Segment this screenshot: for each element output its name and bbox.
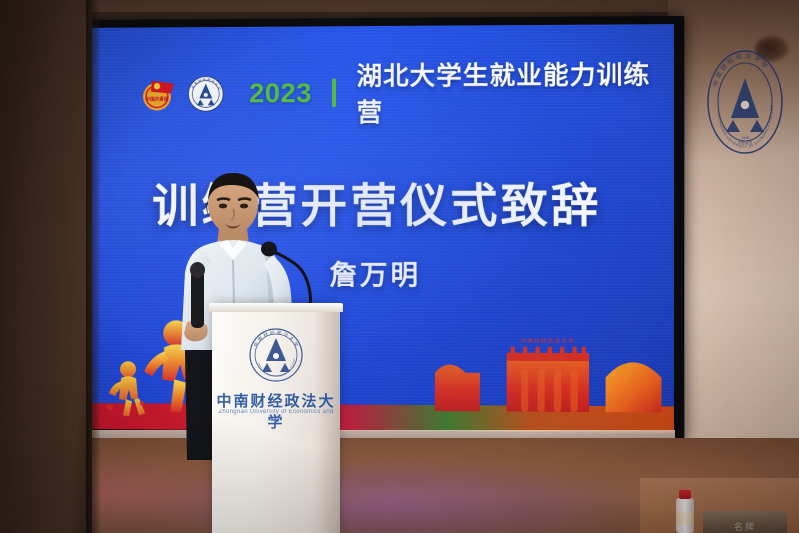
podium-university-name-en: Zhongnan University of Economics and Law — [212, 409, 340, 421]
svg-text:中国 武汉: 中国 武汉 — [738, 140, 753, 145]
wall-university-emblem-icon: 中南财经政法大学 ZHONGNAN UNIVERSITY OF ECONOMIC… — [706, 48, 784, 156]
podium-top-surface — [209, 303, 343, 312]
name-placard-text: 名牌 — [703, 520, 787, 533]
slide-header: 中国共青团 中南财经政法大学 2023 湖北大学生就 — [138, 55, 674, 130]
conference-photo-scene: 中南财经政法大学 ZHONGNAN UNIVERSITY OF ECONOMIC… — [0, 0, 799, 533]
left-wall-edge — [86, 0, 100, 533]
header-divider — [332, 79, 336, 107]
bottle-cap — [679, 490, 691, 499]
svg-text:中南财经政法大学: 中南财经政法大学 — [521, 337, 575, 345]
campus-skyline-artwork-icon: 中南财经政法大学 — [435, 332, 672, 412]
name-placard: 名牌 — [703, 511, 787, 533]
svg-text:1948: 1948 — [741, 136, 749, 140]
slide-subtitle: 湖北大学生就业能力训练营 — [357, 55, 674, 129]
podium-university-seal-icon: 中南财经政法大学 ZHONGNAN UNIVERSITY OF ECONOMIC… — [248, 327, 304, 383]
communist-youth-league-badge-icon: 中国共青团 — [138, 74, 178, 112]
podium: 中南财经政法大学 ZHONGNAN UNIVERSITY OF ECONOMIC… — [212, 305, 340, 533]
left-wall-panel — [0, 0, 92, 533]
university-seal-badge-icon: 中南财经政法大学 — [187, 75, 224, 112]
bottle-label — [676, 512, 694, 525]
slide-year: 2023 — [249, 77, 312, 108]
water-bottle — [676, 490, 694, 533]
